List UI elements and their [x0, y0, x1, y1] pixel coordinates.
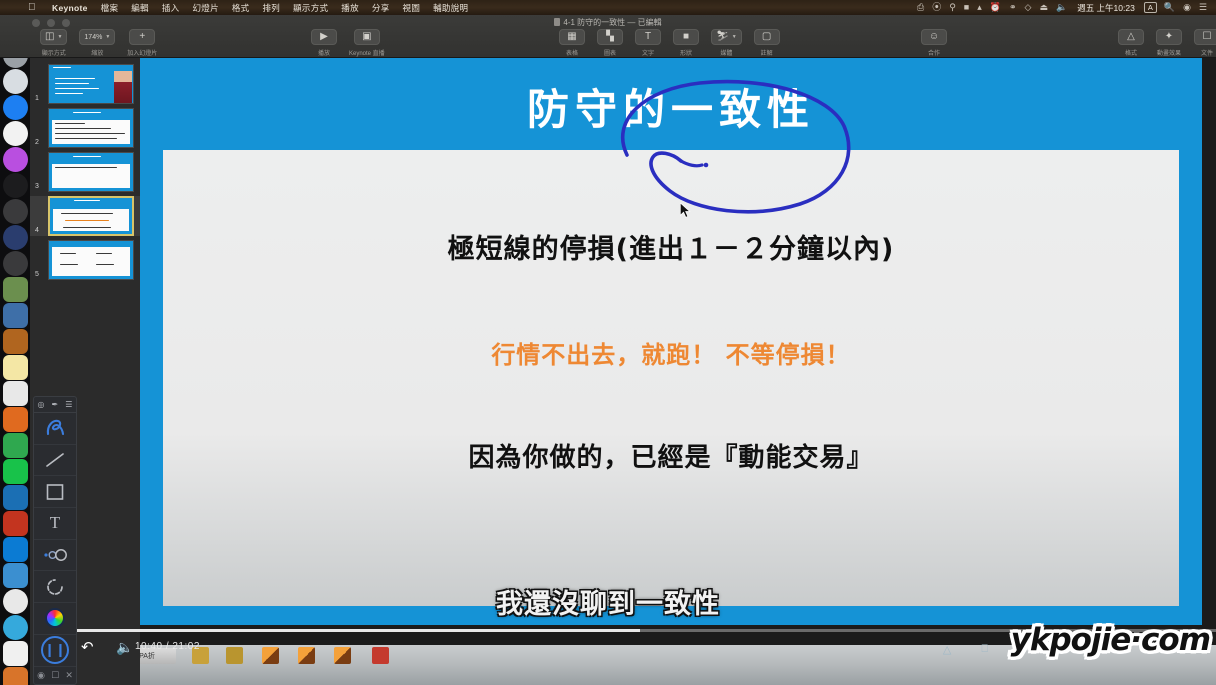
scribble-icon: [43, 418, 67, 438]
windows-icon[interactable]: [3, 537, 28, 562]
toolbar-left-group: ◫▼ 顯示方式 174%▼ 縮放 + 加入幻燈片: [34, 29, 163, 57]
slide-body-line-1: 極短線的停損(進出１－２分鐘以內): [163, 227, 1179, 266]
thumb-text-line: [61, 213, 113, 214]
thumb-text-line: [55, 133, 125, 134]
thumb-text-line: [96, 264, 114, 265]
shape-icon: ■: [673, 29, 699, 45]
insert-comment-label: 註解: [761, 48, 773, 57]
macos-menu-bar:  Keynote 檔案 編輯 插入 幻燈片 格式 排列 顯示方式 播放 分享 …: [0, 0, 1216, 15]
line-tool[interactable]: [34, 445, 76, 477]
close-icon[interactable]: ✕: [65, 670, 73, 681]
document-panel-button[interactable]: ☐ 文件: [1194, 29, 1216, 57]
text-tool[interactable]: T: [34, 508, 76, 540]
thumb-text-line: [55, 167, 117, 168]
appletv-icon[interactable]: [3, 173, 28, 198]
obs-alt-icon[interactable]: [3, 251, 28, 276]
apple-logo-icon[interactable]: : [28, 3, 36, 13]
menu-item-keynote[interactable]: Keynote: [46, 3, 95, 13]
pages-icon[interactable]: [3, 407, 28, 432]
zoom-level-text: 174%: [84, 34, 102, 41]
view-mode-label: 顯示方式: [42, 48, 66, 57]
numbers-icon[interactable]: [3, 433, 28, 458]
telegram-icon[interactable]: [3, 615, 28, 640]
animate-panel-button[interactable]: ✦ 動畫效果: [1156, 29, 1182, 57]
insert-shape-label: 形狀: [680, 48, 692, 57]
color-wheel-icon: [45, 608, 65, 628]
live-screen-icon: ▣: [354, 29, 380, 45]
play-button[interactable]: ▶ 播放: [311, 29, 337, 57]
toolbar-play-group: ▶ 播放 ▣ Keynote 直播: [305, 29, 391, 57]
slide-title: 防守的一致性: [140, 76, 1202, 137]
document-panel-label: 文件: [1201, 48, 1213, 57]
textedit-icon[interactable]: [3, 381, 28, 406]
search-icon[interactable]: 🔍: [1160, 3, 1179, 12]
highlight-icon: [42, 547, 68, 563]
video-current-time: 10:40: [135, 641, 163, 652]
text-icon: T: [50, 513, 60, 533]
thumb-white-box: [52, 120, 130, 144]
add-slide-label: 加入幻燈片: [127, 48, 157, 57]
video-time-separator: /: [166, 641, 169, 652]
highlight-tool[interactable]: [34, 540, 76, 572]
wechat-icon[interactable]: [3, 459, 28, 484]
thumb-white-box: [53, 209, 129, 231]
keynote-toolbar: 4-1 防守的一致性 — 已編輯 ◫▼ 顯示方式 174%▼ 縮放 + 加入幻燈…: [0, 15, 1216, 58]
menu-item-arrange[interactable]: 排列: [256, 2, 287, 14]
collaborate-button[interactable]: ☺ 合作: [921, 29, 947, 57]
pointer-icon[interactable]: ✒: [52, 400, 59, 409]
site-watermark: ykpojie·com: [1011, 622, 1210, 658]
slide-body: 極短線的停損(進出１－２分鐘以內) 行情不出去，就跑！ 不等停損！ 因為你做的，…: [163, 150, 1179, 606]
rectangle-icon: [44, 482, 66, 502]
menu-item-window[interactable]: 視圖: [396, 2, 427, 14]
document-icon: [554, 18, 560, 26]
thumb-text-line: [60, 264, 78, 265]
target-icon[interactable]: ◎: [38, 400, 45, 409]
menu-bar-status-area: ⎙ ⦿ ⚲ ■ ▴ ⏰ ⚭ ◇ ⏏ 🔈 週五 上午10:23 A 🔍 ◉ ☰: [913, 2, 1216, 14]
collaborate-icon: ☺: [921, 29, 947, 45]
thumb-text-line: [96, 253, 112, 254]
menu-item-view-mode[interactable]: 顯示方式: [287, 2, 335, 14]
slide-number-3: 3: [35, 183, 39, 190]
slide-preview-1: [48, 64, 134, 104]
podcasts-icon[interactable]: [3, 147, 28, 172]
menu-item-file[interactable]: 檔案: [94, 2, 125, 14]
preview-icon[interactable]: [3, 303, 28, 328]
document-title-text: 4-1 防守的一致性 — 已編輯: [563, 18, 661, 27]
video-subtitle: 我還沒聊到一致性: [0, 582, 1216, 621]
slide-thumbnail-2[interactable]: 2: [30, 108, 140, 148]
insert-media-button[interactable]: ⛷▼ 媒體: [711, 29, 742, 57]
table-icon: ▦: [559, 29, 585, 45]
thumb-white-box: [52, 164, 130, 188]
archive-icon[interactable]: [3, 667, 28, 685]
animate-label: 動畫效果: [1157, 48, 1181, 57]
toolbar-insert-group: ▦ 表格 ▚ 圖表 T 文字 ■ 形狀 ⛷▼ 媒體 ▢ 註解: [553, 29, 786, 57]
annotation-tool-palette[interactable]: ◎ ✒ ☰ T: [33, 396, 77, 685]
document-panel-icon: ☐: [1194, 29, 1216, 45]
text-icon: T: [635, 29, 661, 45]
menu-bar-clock[interactable]: 週五 上午10:23: [1071, 2, 1141, 14]
graph-icon[interactable]: ▴: [973, 3, 986, 12]
thumb-text-line-orange: [65, 220, 109, 221]
animate-icon: ✦: [1156, 29, 1182, 45]
display-icon[interactable]: ⎙: [913, 3, 928, 12]
pause-icon: ❙❙: [41, 636, 69, 664]
thumb-white-box: [52, 247, 130, 276]
rotate-icon: [44, 577, 66, 597]
keynote-live-label: Keynote 直播: [349, 48, 385, 57]
input-source-indicator[interactable]: A: [1144, 2, 1157, 13]
slide-preview-3: [48, 152, 134, 192]
insert-text-button[interactable]: T 文字: [635, 29, 661, 57]
scribble-tool[interactable]: [34, 413, 76, 445]
thumb-text-line: [60, 253, 76, 254]
insert-media-label: 媒體: [720, 48, 732, 57]
siri-icon[interactable]: ◉: [1179, 3, 1195, 12]
insert-text-label: 文字: [642, 48, 654, 57]
timemachine-icon[interactable]: ⏰: [986, 3, 1005, 12]
safari-icon[interactable]: [3, 69, 28, 94]
toolbar-right-group: △ 格式 ✦ 動畫效果 ☐ 文件: [1112, 29, 1216, 57]
volume-icon[interactable]: 🔈: [116, 640, 133, 654]
teamviewer-icon[interactable]: [3, 485, 28, 510]
thumb-text-line: [63, 227, 111, 228]
chart-icon: ▚: [597, 29, 623, 45]
slide-number-1: 1: [35, 95, 39, 102]
thumb-text-line: [55, 128, 111, 129]
slide-preview-2: [48, 108, 134, 148]
menu-item-insert[interactable]: 插入: [155, 2, 186, 14]
line-icon: [43, 450, 67, 470]
color-tool[interactable]: [34, 603, 76, 635]
parallels-icon[interactable]: [3, 563, 28, 588]
play-icon: ▶: [311, 29, 337, 45]
slide-preview-4: [48, 196, 134, 236]
slide-canvas[interactable]: 防守的一致性 極短線的停損(進出１－２分鐘以內) 行情不出去，就跑！ 不等停損！…: [140, 58, 1202, 625]
control-center-icon[interactable]: ☰: [1195, 3, 1211, 12]
insert-comment-button[interactable]: ▢ 註解: [754, 29, 780, 57]
utility-blue-icon[interactable]: [3, 225, 28, 250]
slide-thumbnail-1[interactable]: 1: [30, 64, 140, 104]
obs-icon[interactable]: [3, 199, 28, 224]
document-title-bar: 4-1 防守的一致性 — 已編輯: [0, 17, 1216, 28]
warning-triangle-icon[interactable]: △: [943, 643, 951, 656]
view-mode-button[interactable]: ◫▼ 顯示方式: [40, 29, 67, 57]
rectangle-tool[interactable]: [34, 476, 76, 508]
slide-body-line-3: 因為你做的，已經是『動能交易』: [163, 437, 1179, 474]
menu-item-share[interactable]: 分享: [365, 2, 396, 14]
video-time-display: 10:40 / 21:02: [135, 641, 200, 652]
thumb-person-photo: [114, 71, 132, 103]
menu-icon[interactable]: ☰: [65, 400, 72, 409]
menu-item-help[interactable]: 輔助說明: [427, 2, 475, 14]
thumb-text-line: [55, 123, 85, 124]
collaborate-label: 合作: [928, 48, 940, 57]
pause-button[interactable]: ❙❙: [34, 635, 76, 667]
add-slide-button[interactable]: + 加入幻燈片: [127, 29, 157, 57]
menu-item-format[interactable]: 格式: [225, 2, 256, 14]
format-label: 格式: [1125, 48, 1137, 57]
replay-10-icon[interactable]: ↶: [81, 640, 94, 655]
screen-root:  Keynote 檔案 編輯 插入 幻燈片 格式 排列 顯示方式 播放 分享 …: [0, 0, 1216, 685]
slide-number-5: 5: [35, 271, 39, 278]
pin-icon[interactable]: ⚲: [945, 3, 960, 12]
insert-chart-button[interactable]: ▚ 圖表: [597, 29, 623, 57]
comment-icon: ▢: [754, 29, 780, 45]
view-layout-icon: ◫▼: [40, 29, 67, 45]
slide-thumbnail-5[interactable]: 5: [30, 240, 140, 280]
mouse-cursor-icon: [680, 203, 692, 219]
zoom-label: 縮放: [91, 48, 103, 57]
remote-desktop-icon[interactable]: [3, 511, 28, 536]
volume-icon[interactable]: 🔈: [1052, 3, 1071, 12]
slide-preview-5: [48, 240, 134, 280]
slide-thumbnail-4[interactable]: 4: [30, 196, 140, 236]
insert-chart-label: 圖表: [604, 48, 616, 57]
record-icon[interactable]: ◉: [37, 670, 45, 681]
books-icon[interactable]: [3, 329, 28, 354]
video-total-time: 21:02: [172, 641, 200, 652]
calendar-icon[interactable]: [3, 641, 28, 666]
insert-shape-button[interactable]: ■ 形狀: [673, 29, 699, 57]
zoom-button[interactable]: 174%▼ 縮放: [79, 29, 115, 57]
plus-icon: +: [129, 29, 155, 45]
music-icon[interactable]: [3, 121, 28, 146]
checkmark-circle-icon[interactable]: ⦿: [928, 3, 945, 12]
wifi-icon[interactable]: ◇: [1021, 3, 1036, 12]
format-brush-icon: △: [1118, 29, 1144, 45]
slide-body-line-2: 行情不出去，就跑！ 不等停損！: [163, 335, 1179, 370]
overlay-tray-icons: △ ⎕: [943, 643, 988, 656]
thumb-text-line: [55, 138, 117, 139]
chrome-icon[interactable]: [3, 589, 28, 614]
format-panel-button[interactable]: △ 格式: [1118, 29, 1144, 57]
stop-icon[interactable]: ☐: [51, 670, 59, 681]
menu-item-slide[interactable]: 幻燈片: [186, 2, 225, 14]
video-progress-fill: [77, 629, 640, 632]
appstore-icon[interactable]: [3, 95, 28, 120]
insert-table-label: 表格: [566, 48, 578, 57]
slide-number-4: 4: [35, 227, 39, 234]
eject-icon[interactable]: ⏏: [1035, 3, 1052, 12]
slide-number-2: 2: [35, 139, 39, 146]
battery-icon[interactable]: ■: [960, 3, 973, 12]
menu-item-play[interactable]: 播放: [335, 2, 366, 14]
palette-footer: ◉ ☐ ✕: [34, 666, 76, 684]
media-icon: ⛷▼: [711, 29, 742, 45]
menu-item-edit[interactable]: 編輯: [125, 2, 156, 14]
play-label: 播放: [318, 48, 330, 57]
insert-table-button[interactable]: ▦ 表格: [559, 29, 585, 57]
monitor-icon[interactable]: ⎕: [981, 643, 988, 656]
keynote-live-button[interactable]: ▣ Keynote 直播: [349, 29, 385, 57]
toolbar-collaborate-group: ☺ 合作: [915, 29, 953, 57]
money-icon[interactable]: [3, 277, 28, 302]
palette-header: ◎ ✒ ☰: [34, 397, 76, 413]
slide-thumbnail-3[interactable]: 3: [30, 152, 140, 192]
bluetooth-icon[interactable]: ⚭: [1005, 3, 1021, 12]
macos-dock: [0, 15, 30, 685]
zoom-level-value: 174%▼: [79, 29, 115, 45]
undo-tool[interactable]: [34, 571, 76, 603]
notes-icon[interactable]: [3, 355, 28, 380]
